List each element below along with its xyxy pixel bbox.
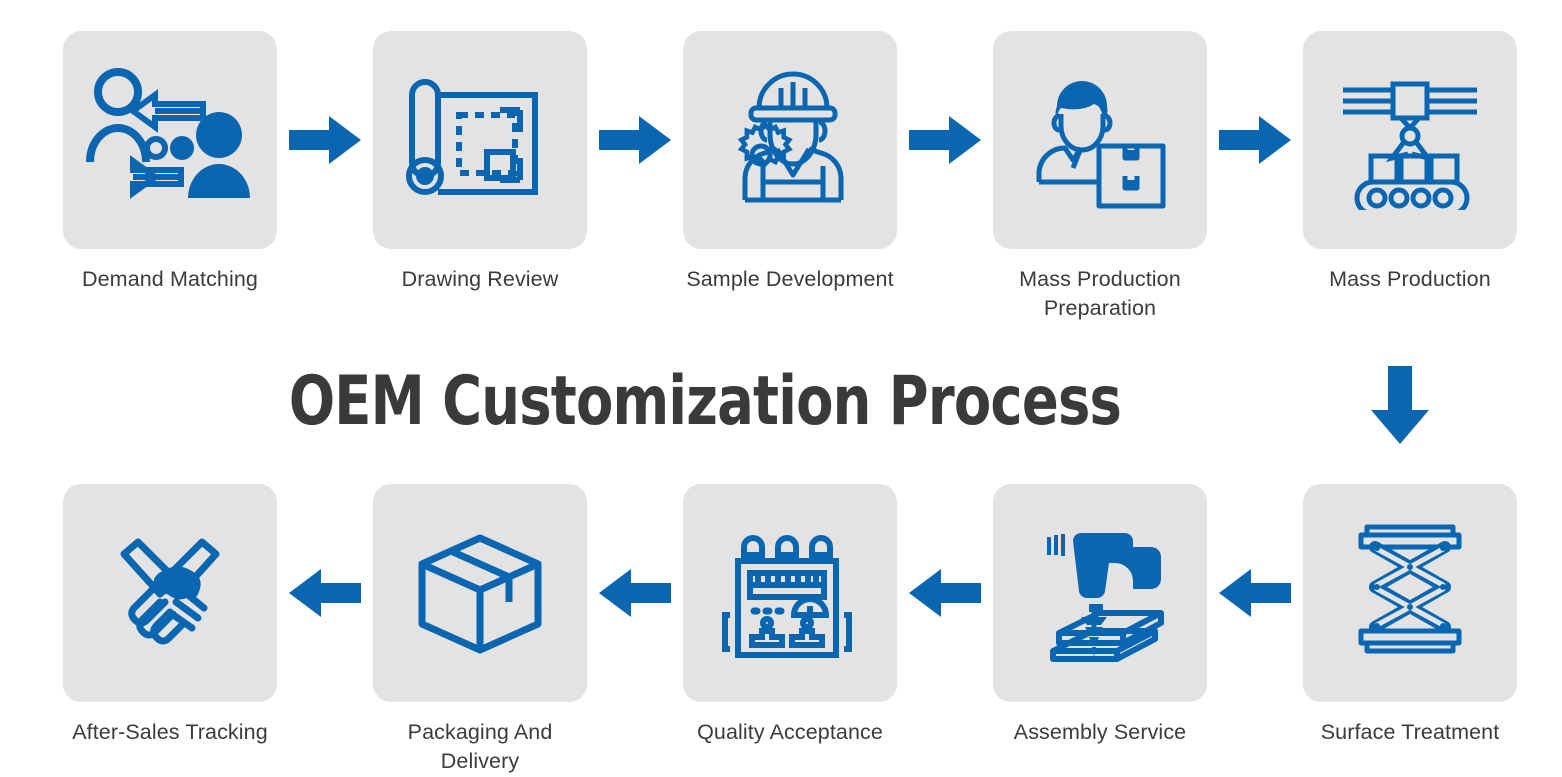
flow-arrow-left-2 xyxy=(587,484,683,702)
flow-arrow-down xyxy=(1371,366,1429,444)
step-icon-card xyxy=(63,484,277,702)
process-row-top: Demand Matching xyxy=(0,31,1562,323)
step-drawing-review[interactable]: Drawing Review xyxy=(373,31,587,294)
step-label: Demand Matching xyxy=(82,265,258,294)
step-label: Packaging And Delivery xyxy=(373,718,587,776)
sample-development-icon xyxy=(715,70,865,210)
flow-arrow-left-3 xyxy=(897,484,993,702)
step-icon-card xyxy=(1303,484,1517,702)
flow-arrow-right-1 xyxy=(277,31,373,249)
step-packaging-and-delivery[interactable]: Packaging And Delivery xyxy=(373,484,587,776)
mass-production-icon xyxy=(1335,70,1485,210)
scissor-lift-icon xyxy=(1355,521,1465,666)
step-demand-matching[interactable]: Demand Matching xyxy=(63,31,277,294)
flow-arrow-right-2 xyxy=(587,31,683,249)
power-drill-icon xyxy=(1023,521,1178,666)
step-label: Mass Production Preparation xyxy=(1019,265,1181,323)
step-assembly-service[interactable]: Assembly Service xyxy=(993,484,1207,747)
flow-arrow-right-4 xyxy=(1207,31,1303,249)
step-sample-development[interactable]: Sample Development xyxy=(683,31,897,294)
step-label: Assembly Service xyxy=(1014,718,1186,747)
step-icon-card xyxy=(683,31,897,249)
step-label: Quality Acceptance xyxy=(697,718,883,747)
step-icon-card xyxy=(993,484,1207,702)
step-icon-card xyxy=(993,31,1207,249)
step-label: Mass Production xyxy=(1329,265,1491,294)
arrow-left-icon xyxy=(909,569,981,617)
demand-matching-icon xyxy=(85,65,255,215)
arrow-left-icon xyxy=(1219,569,1291,617)
arrow-right-icon xyxy=(1219,116,1291,164)
step-quality-acceptance[interactable]: Quality Acceptance xyxy=(683,484,897,747)
step-mass-production-preparation[interactable]: Mass Production Preparation xyxy=(993,31,1207,323)
arrow-left-icon xyxy=(599,569,671,617)
arrow-right-icon xyxy=(909,116,981,164)
arrow-down-icon xyxy=(1371,366,1429,444)
step-label: Drawing Review xyxy=(402,265,559,294)
flow-arrow-right-3 xyxy=(897,31,993,249)
arrow-right-icon xyxy=(289,116,361,164)
flow-arrow-left-4 xyxy=(1207,484,1303,702)
step-icon-card xyxy=(373,484,587,702)
step-icon-card xyxy=(63,31,277,249)
step-icon-card xyxy=(683,484,897,702)
step-label: Surface Treatment xyxy=(1321,718,1500,747)
flow-arrow-left-1 xyxy=(277,484,373,702)
arrow-left-icon xyxy=(289,569,361,617)
oem-process-diagram: Demand Matching xyxy=(0,0,1562,777)
step-mass-production[interactable]: Mass Production xyxy=(1303,31,1517,294)
drawing-review-icon xyxy=(405,70,555,210)
package-box-icon xyxy=(410,526,550,661)
step-label: Sample Development xyxy=(686,265,893,294)
mass-production-preparation-icon xyxy=(1025,70,1175,210)
step-icon-card xyxy=(373,31,587,249)
process-row-bottom: After-Sales Tracking Packaging And Del xyxy=(0,484,1562,776)
handshake-icon xyxy=(90,528,250,658)
step-label: After-Sales Tracking xyxy=(72,718,268,747)
arrow-right-icon xyxy=(599,116,671,164)
page-title: OEM Customization Process xyxy=(156,363,1406,441)
quality-inspection-icon xyxy=(720,523,860,663)
step-icon-card xyxy=(1303,31,1517,249)
step-surface-treatment[interactable]: Surface Treatment xyxy=(1303,484,1517,747)
step-after-sales-tracking[interactable]: After-Sales Tracking xyxy=(63,484,277,747)
